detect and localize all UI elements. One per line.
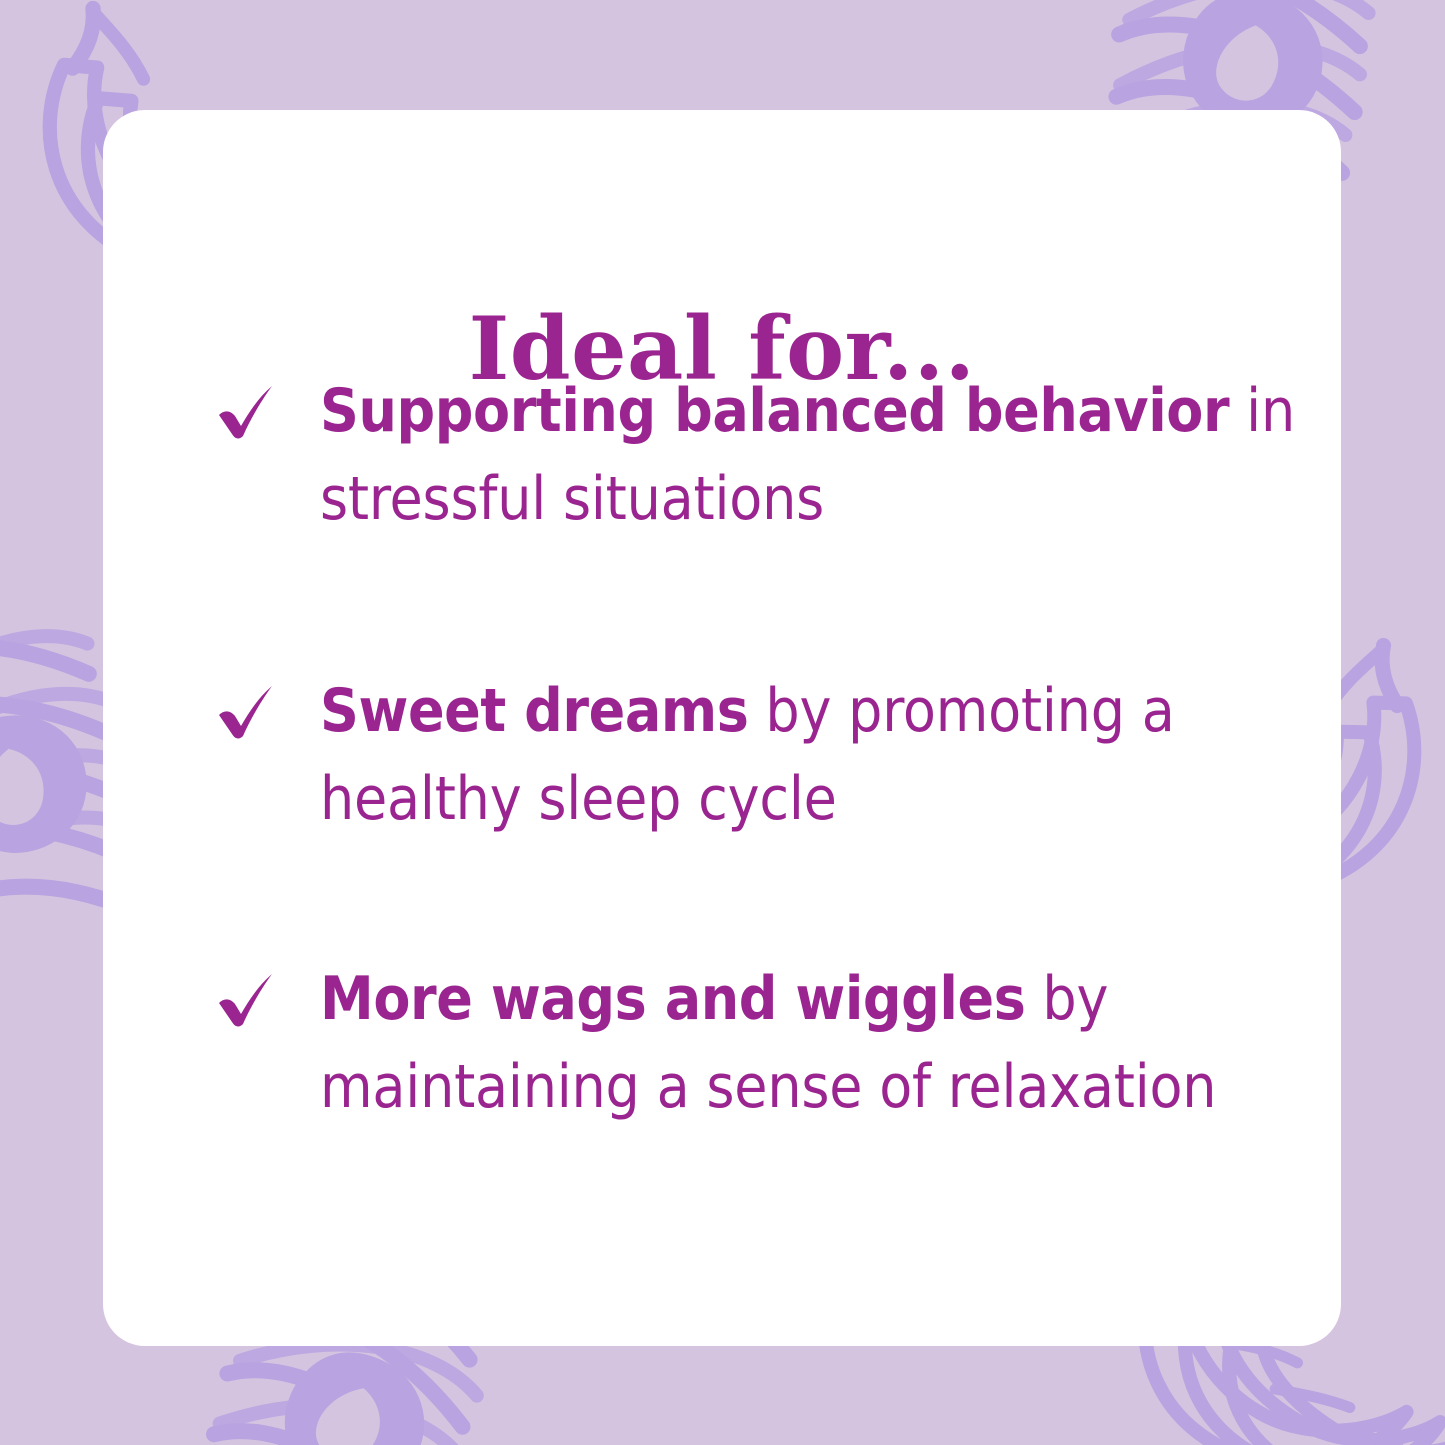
check-mark-cell xyxy=(215,956,320,1032)
benefit-text: Supporting balanced behavior in stressfu… xyxy=(320,368,1315,543)
check-mark-icon xyxy=(215,382,277,444)
benefit-lead: More wags and wiggles xyxy=(320,964,1025,1034)
benefit-list: Supporting balanced behavior in stressfu… xyxy=(103,368,1341,1156)
list-item: Sweet dreams by promoting a healthy slee… xyxy=(215,668,1315,956)
benefit-text: Sweet dreams by promoting a healthy slee… xyxy=(320,668,1315,843)
check-mark-icon xyxy=(215,682,277,744)
check-mark-cell xyxy=(215,368,320,444)
check-mark-cell xyxy=(215,668,320,744)
promo-graphic: Ideal for... Supporting balanced behavio… xyxy=(0,0,1445,1445)
list-item: More wags and wiggles by maintaining a s… xyxy=(215,956,1315,1156)
benefit-lead: Sweet dreams xyxy=(320,676,748,746)
content-card: Ideal for... Supporting balanced behavio… xyxy=(103,110,1341,1346)
check-mark-icon xyxy=(215,970,277,1032)
benefit-lead: Supporting balanced behavior xyxy=(320,376,1229,446)
list-item: Supporting balanced behavior in stressfu… xyxy=(215,368,1315,668)
benefit-text: More wags and wiggles by maintaining a s… xyxy=(320,956,1315,1131)
